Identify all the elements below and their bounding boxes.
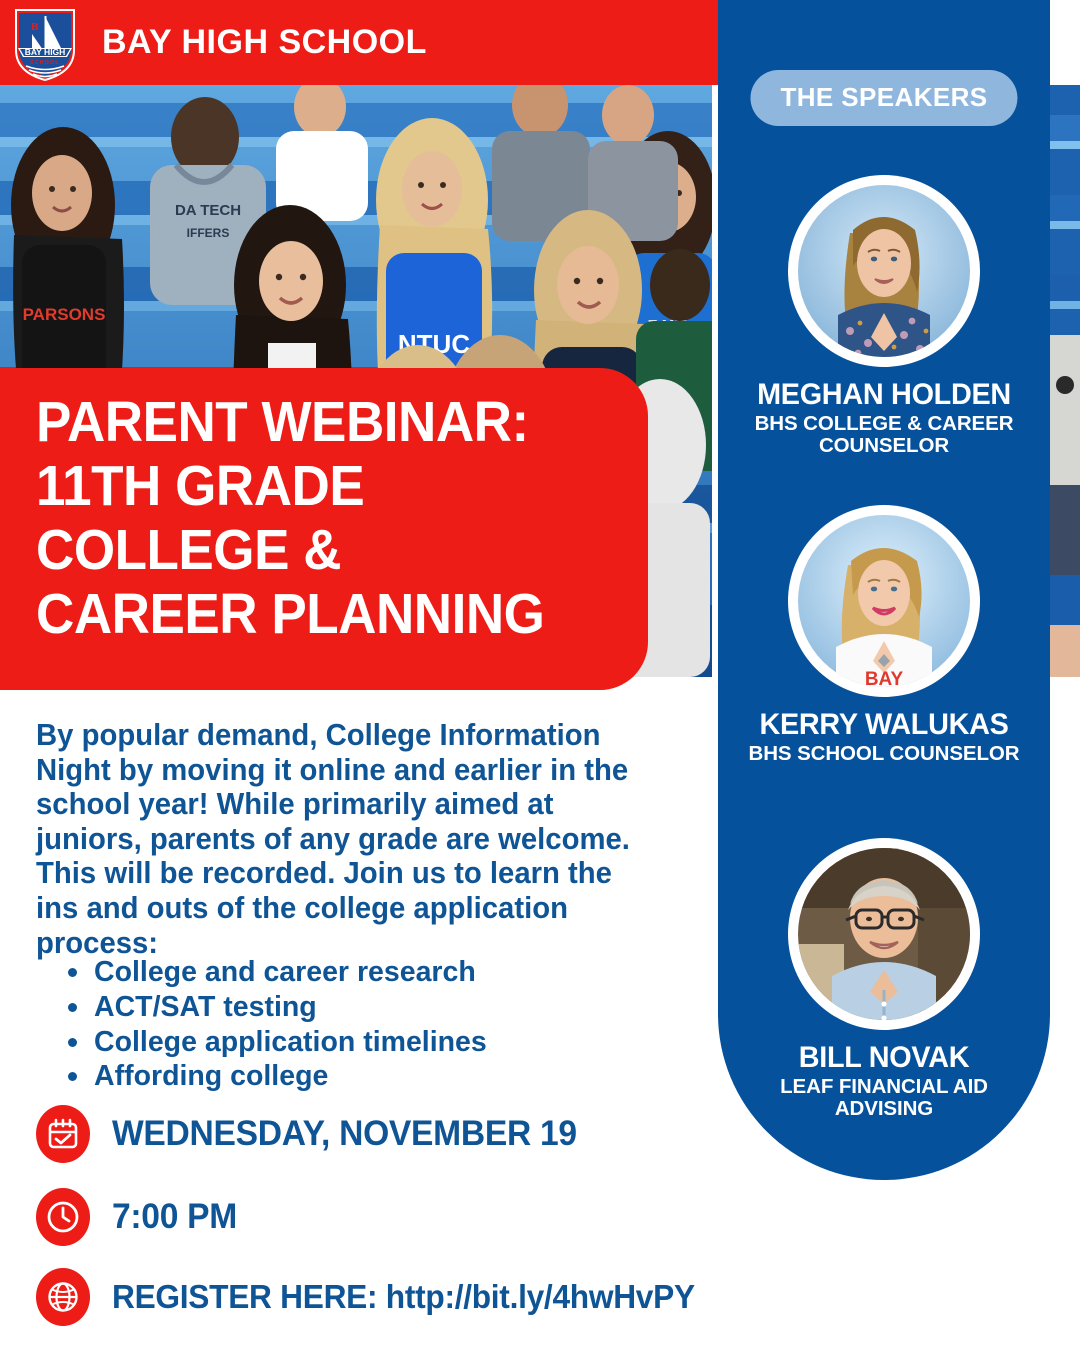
title-line-4: CAREER PLANNING [36, 586, 577, 643]
edge-bleachers [1050, 85, 1080, 677]
svg-text:B: B [31, 21, 39, 33]
calendar-icon [36, 1105, 90, 1163]
event-time-row: 7:00 PM [36, 1188, 242, 1246]
logo-banner-text: BAY HIGH [25, 47, 66, 57]
speaker-name: BILL NOVAK [725, 1042, 1044, 1074]
title-line-2: 11TH GRADE [36, 458, 577, 515]
list-item: College and career research [58, 955, 678, 990]
speaker-name: MEGHAN HOLDEN [725, 379, 1044, 411]
speaker-role: BHS SCHOOL COUNSELOR [718, 743, 1050, 765]
svg-text:PARSONS: PARSONS [23, 305, 106, 324]
avatar [788, 175, 980, 367]
globe-icon [36, 1268, 90, 1326]
event-date-row: WEDNESDAY, NOVEMBER 19 [36, 1105, 596, 1163]
topics-list: College and career research ACT/SAT test… [58, 955, 678, 1094]
list-item: College application timelines [58, 1025, 678, 1060]
logo-sub-text: SCHOOL [30, 60, 60, 66]
avatar: BAY [788, 505, 980, 697]
svg-text:BAY: BAY [865, 669, 904, 687]
avatar [788, 838, 980, 1030]
speaker-name: KERRY WALUKAS [725, 709, 1044, 741]
photo-edge-strip [1050, 85, 1080, 677]
list-item: Affording college [58, 1059, 678, 1094]
svg-text:DA TECH: DA TECH [175, 202, 241, 219]
speaker-photo-meghan-holden [798, 185, 970, 357]
svg-text:IFFERS: IFFERS [187, 226, 230, 240]
list-item: ACT/SAT testing [58, 990, 678, 1025]
event-date: WEDNESDAY, NOVEMBER 19 [112, 1114, 577, 1154]
speaker-role: LEAF FINANCIAL AID ADVISING [718, 1076, 1050, 1121]
speakers-panel: THE SPEAKERS [718, 0, 1050, 1180]
title-block: PARENT WEBINAR: 11TH GRADE COLLEGE & CAR… [0, 368, 648, 690]
bay-high-school-logo-icon: B BAY HIGH SCHOOL [10, 4, 80, 82]
speaker-card: MEGHAN HOLDEN BHS COLLEGE & CAREER COUNS… [718, 175, 1050, 457]
event-time: 7:00 PM [112, 1197, 237, 1237]
speaker-role: BHS COLLEGE & CAREER COUNSELOR [718, 413, 1050, 458]
speakers-badge: THE SPEAKERS [750, 70, 1017, 126]
clock-icon [36, 1188, 90, 1246]
speaker-card: BILL NOVAK LEAF FINANCIAL AID ADVISING [718, 838, 1050, 1120]
speaker-card: BAY KERRY WALUKAS BHS SCHOOL COUNSELOR [718, 505, 1050, 765]
registration-link[interactable]: REGISTER HERE: http://bit.ly/4hwHvPY [112, 1278, 695, 1316]
speaker-photo-bill-novak [798, 848, 970, 1020]
title-line-3: COLLEGE & [36, 522, 577, 579]
description-paragraph: By popular demand, College Information N… [36, 718, 650, 960]
school-name: BAY HIGH SCHOOL [102, 23, 427, 62]
registration-row[interactable]: REGISTER HERE: http://bit.ly/4hwHvPY [36, 1268, 719, 1326]
speaker-photo-kerry-walukas: BAY [798, 515, 970, 687]
header-bar: B BAY HIGH SCHOOL BAY HIGH SCHOOL [0, 0, 718, 85]
title-line-1: PARENT WEBINAR: [36, 394, 577, 451]
